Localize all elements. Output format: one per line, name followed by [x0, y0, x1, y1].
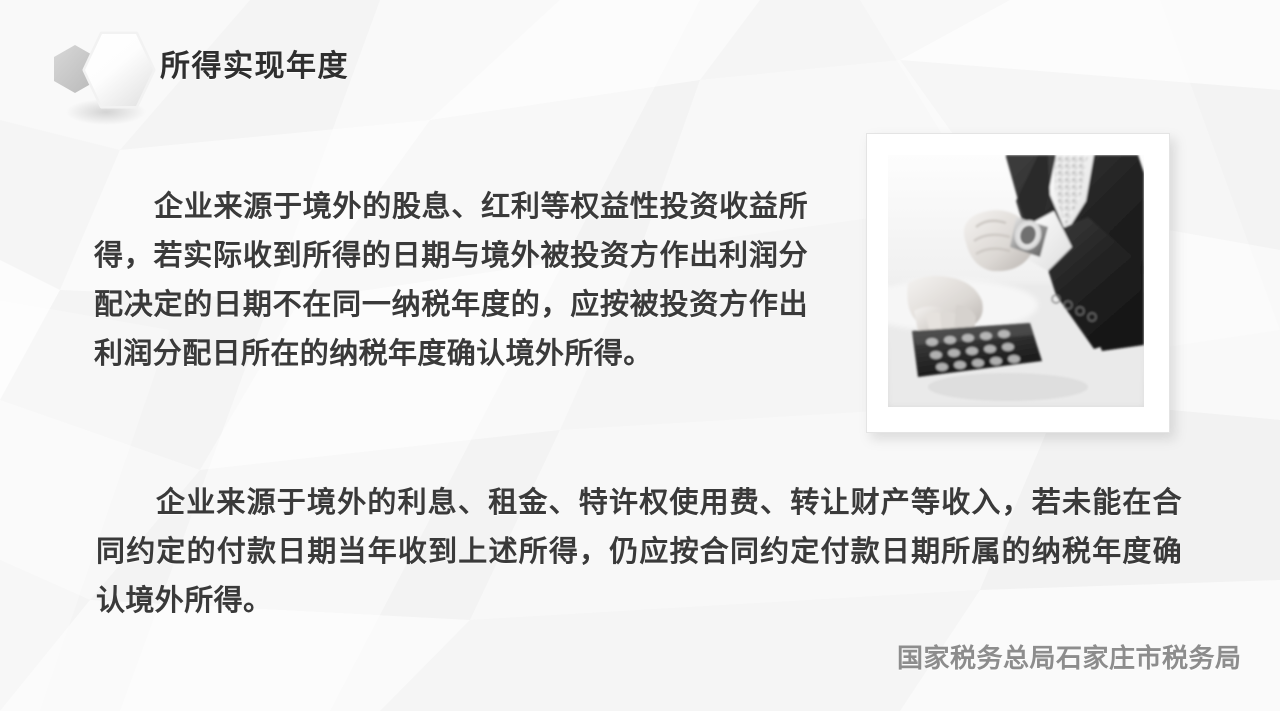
- presentation-slide: 所得实现年度 企业来源于境外的股息、红利等权益性投资收益所得，若实际收到所得的日…: [0, 0, 1280, 711]
- slide-header: 所得实现年度: [0, 0, 1280, 130]
- page-title: 所得实现年度: [160, 47, 349, 87]
- hexagon-logo-icon: [44, 26, 164, 130]
- footer-organization: 国家税务总局石家庄市税务局: [897, 638, 1242, 675]
- body-paragraph-2: 企业来源于境外的利息、租金、特许权使用费、转让财产等收入，若未能在合同约定的付款…: [96, 478, 1182, 625]
- body-paragraph-1: 企业来源于境外的股息、红利等权益性投资收益所得，若实际收到所得的日期与境外被投资…: [94, 182, 808, 378]
- businessman-checking-watch-photo: [888, 155, 1144, 407]
- photo-frame: [866, 133, 1170, 433]
